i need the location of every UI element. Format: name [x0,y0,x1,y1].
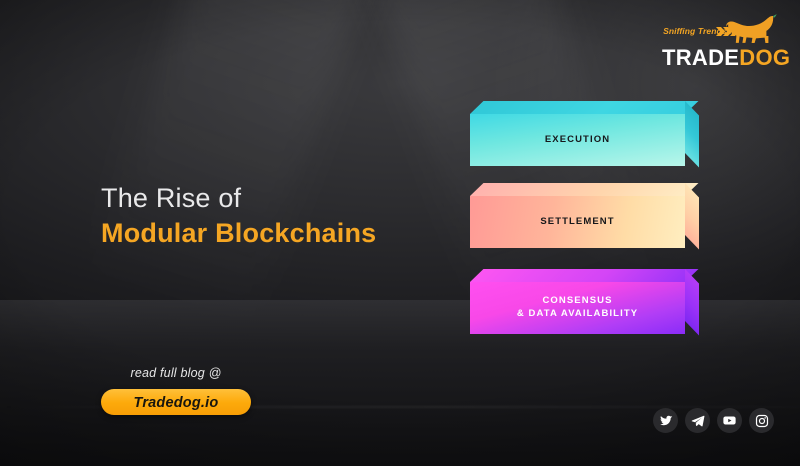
instagram-icon [755,414,769,428]
layer-front-face: SETTLEMENT [470,196,685,248]
social-link-telegram[interactable] [685,408,710,433]
headline-line-2: Modular Blockchains [101,217,481,250]
youtube-icon [722,413,737,428]
social-link-twitter[interactable] [653,408,678,433]
layer-side-face [685,269,699,335]
headline-block: The Rise of Modular Blockchains [101,182,481,250]
cta-block: read full blog @ Tradedog.io [101,366,251,415]
tradedog-io-button[interactable]: Tradedog.io [101,389,251,415]
layer-label-consensus: CONSENSUS & DATA AVAILABILITY [517,295,638,321]
social-links [653,408,774,433]
layer-front-face: EXECUTION [470,114,685,166]
headline-line-1: The Rise of [101,182,481,215]
layer-side-face [685,183,699,249]
brand-word-dog: DOG [739,45,790,70]
layer-label-execution: EXECUTION [545,134,610,147]
brand-wordmark: TRADEDOG [662,47,772,69]
layer-label-settlement: SETTLEMENT [540,216,614,229]
social-link-youtube[interactable] [717,408,742,433]
brand-logo[interactable]: Sniffing Trends... TRADEDOG [662,26,772,69]
brand-logo-top-row: Sniffing Trends... [662,26,772,44]
layer-front-face: CONSENSUS & DATA AVAILABILITY [470,282,685,334]
telegram-icon [691,414,705,428]
cta-label: read full blog @ [101,366,251,380]
stack-layer-execution[interactable]: EXECUTION [470,114,685,166]
stack-layer-settlement[interactable]: SETTLEMENT [470,196,685,248]
brand-word-trade: TRADE [662,45,739,70]
modular-stack-diagram: EXECUTION SETTLEMENT CONSENSUS & DATA AV… [470,100,720,360]
twitter-icon [659,414,673,428]
layer-top-face [470,101,698,114]
stack-layer-consensus[interactable]: CONSENSUS & DATA AVAILABILITY [470,282,685,334]
layer-top-face [470,269,698,282]
dog-silhouette-icon [726,14,778,46]
layer-top-face [470,183,698,196]
social-link-instagram[interactable] [749,408,774,433]
promo-banner: Sniffing Trends... TRADEDOG The Rise of … [0,0,800,466]
layer-side-face [685,101,699,167]
